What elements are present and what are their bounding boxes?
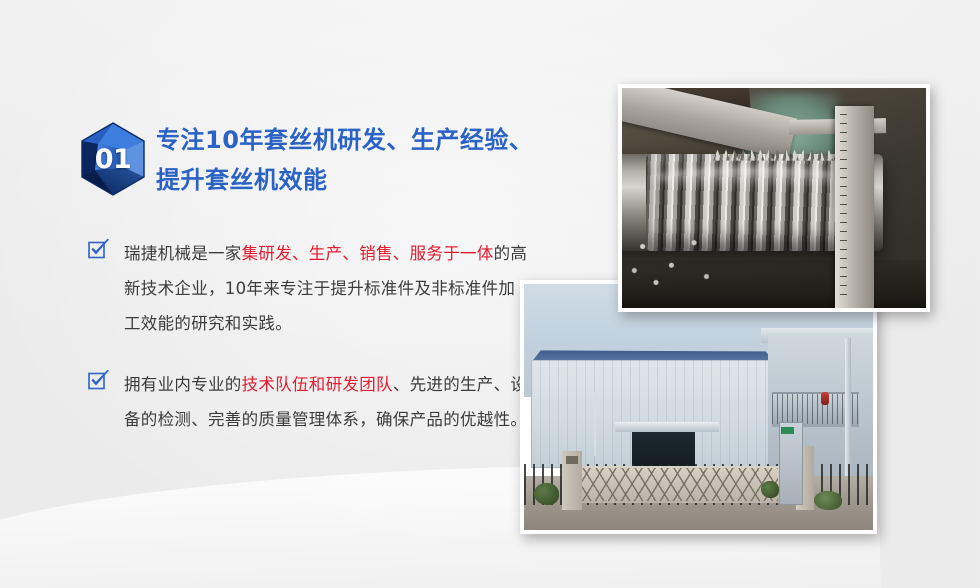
list-item: 拥有业内专业的技术队伍和研发团队、先进的生产、设备的检测、完善的质量管理体系，确…: [88, 367, 528, 437]
promo-banner: 01 专注10年套丝机研发、生产经验、 提升套丝机效能 瑞捷机械是一家集研发、生…: [0, 0, 980, 588]
threaded-pipe-photo: [618, 84, 930, 312]
door-canopy: [615, 422, 720, 432]
bullet-2-highlight: 技术队伍和研发团队: [242, 375, 393, 394]
section-header: 01 专注10年套丝机研发、生产经验、 提升套丝机效能: [78, 118, 548, 200]
list-item-text: 瑞捷机械是一家集研发、生产、销售、服务于一体的高新技术企业，10年来专注于提升标…: [124, 236, 528, 341]
pillar-signboard: [566, 456, 579, 464]
section-number-text: 01: [78, 122, 148, 196]
bush: [814, 491, 842, 511]
section-number-badge: 01: [78, 122, 148, 196]
feature-list: 瑞捷机械是一家集研发、生产、销售、服务于一体的高新技术企业，10年来专注于提升标…: [88, 236, 528, 463]
drain-pipe: [845, 338, 851, 476]
warning-light: [821, 392, 829, 404]
pipe-photo-inner: [622, 88, 926, 308]
list-item-text: 拥有业内专业的技术队伍和研发团队、先进的生产、设备的检测、完善的质量管理体系，确…: [124, 367, 528, 437]
exit-sign: [781, 427, 795, 434]
metal-chips: [622, 224, 725, 299]
guard-booth: [779, 422, 803, 506]
bush: [761, 481, 778, 498]
bullet-1-highlight: 集研发、生产、销售、服务于一体: [242, 244, 494, 263]
factory-photo-inner: [524, 284, 873, 530]
check-box-icon: [88, 239, 110, 259]
bush: [534, 483, 558, 505]
check-box-icon: [88, 370, 110, 390]
sliding-gate: [573, 466, 782, 503]
factory-building-photo: [520, 280, 877, 534]
list-item: 瑞捷机械是一家集研发、生产、销售、服务于一体的高新技术企业，10年来专注于提升标…: [88, 236, 528, 341]
heading-line-1: 专注10年套丝机研发、生产经验、: [156, 120, 533, 160]
content-column: 01 专注10年套丝机研发、生产经验、 提升套丝机效能 瑞捷机械是一家集研发、生…: [0, 0, 560, 588]
bullet-2-part-1: 拥有业内专业的: [124, 375, 242, 394]
heading-line-2: 提升套丝机效能: [156, 160, 533, 200]
section-heading: 专注10年套丝机研发、生产经验、 提升套丝机效能: [156, 118, 533, 200]
flag-mast: [594, 392, 596, 456]
caliper-scale: [835, 106, 875, 308]
bullet-1-part-1: 瑞捷机械是一家: [124, 244, 242, 263]
